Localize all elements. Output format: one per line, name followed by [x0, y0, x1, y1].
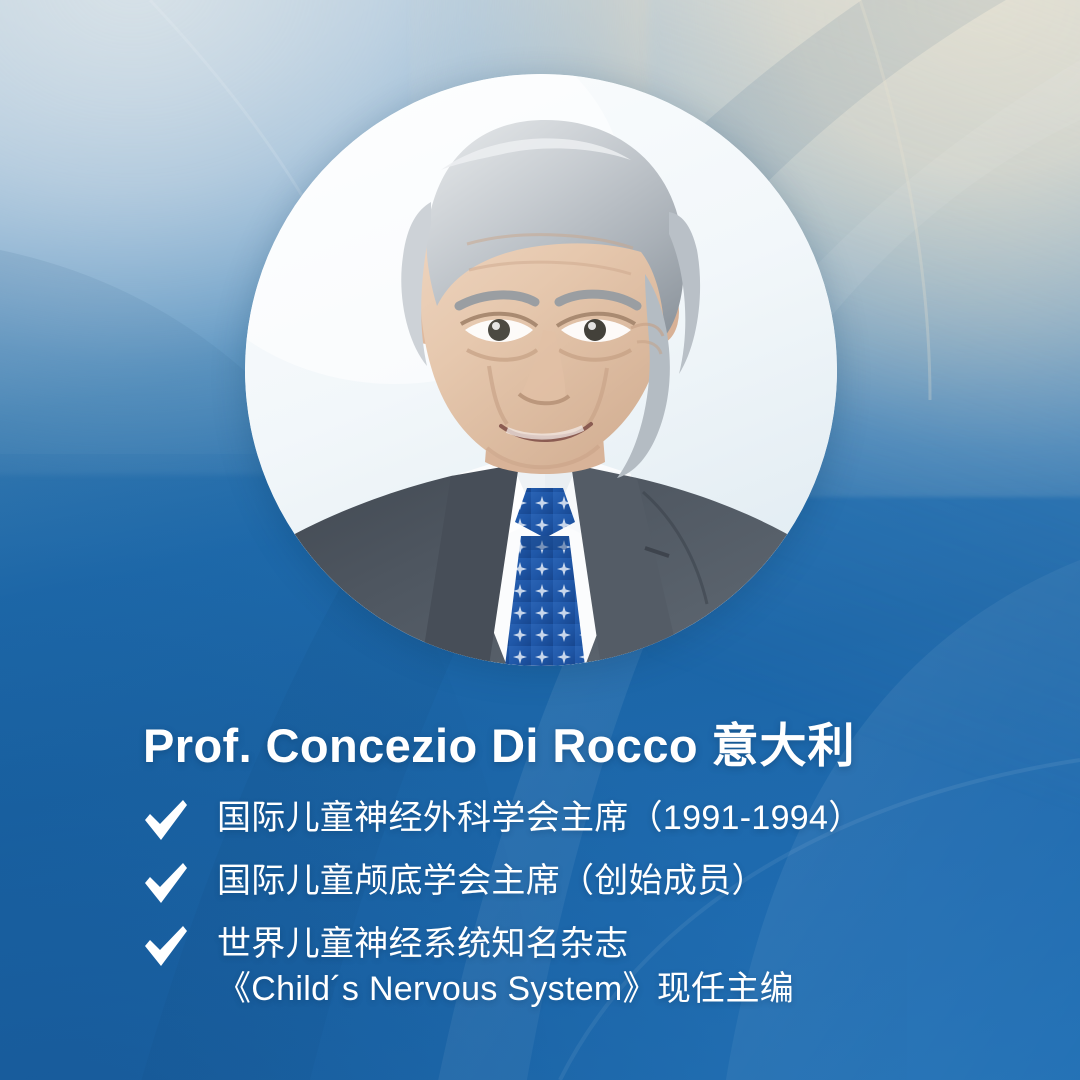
credential-text: 国际儿童颅底学会主席（创始成员）: [217, 859, 766, 904]
check-icon: [143, 925, 189, 969]
check-icon: [143, 862, 189, 906]
speaker-country: 意大利: [711, 719, 855, 772]
credential-line-1: 国际儿童神经外科学会主席（1991-1994）: [217, 799, 863, 837]
list-item: 国际儿童颅底学会主席（创始成员）: [143, 859, 1023, 906]
speaker-profile-card: Prof. Concezio Di Rocco 意大利 国际儿童神经外科学会主席…: [0, 0, 1080, 1080]
list-item: 世界儿童神经系统知名杂志 《Child´s Nervous System》现任主…: [143, 922, 1023, 1012]
credential-line-2: 《Child´s Nervous System》现任主编: [217, 967, 794, 1012]
page-title: Prof. Concezio Di Rocco 意大利: [143, 707, 855, 776]
speaker-name: Prof. Concezio Di Rocco: [143, 719, 698, 772]
check-icon: [143, 799, 189, 843]
credential-line-1: 世界儿童神经系统知名杂志: [217, 925, 629, 963]
credentials-list: 国际儿童神经外科学会主席（1991-1994） 国际儿童颅底学会主席（创始成员）…: [143, 796, 1023, 1012]
speaker-portrait: [245, 74, 837, 666]
credential-line-1: 国际儿童颅底学会主席（创始成员）: [217, 862, 766, 900]
list-item: 国际儿童神经外科学会主席（1991-1994）: [143, 796, 1023, 843]
credential-text: 国际儿童神经外科学会主席（1991-1994）: [217, 796, 863, 841]
credential-text: 世界儿童神经系统知名杂志 《Child´s Nervous System》现任主…: [217, 922, 794, 1012]
